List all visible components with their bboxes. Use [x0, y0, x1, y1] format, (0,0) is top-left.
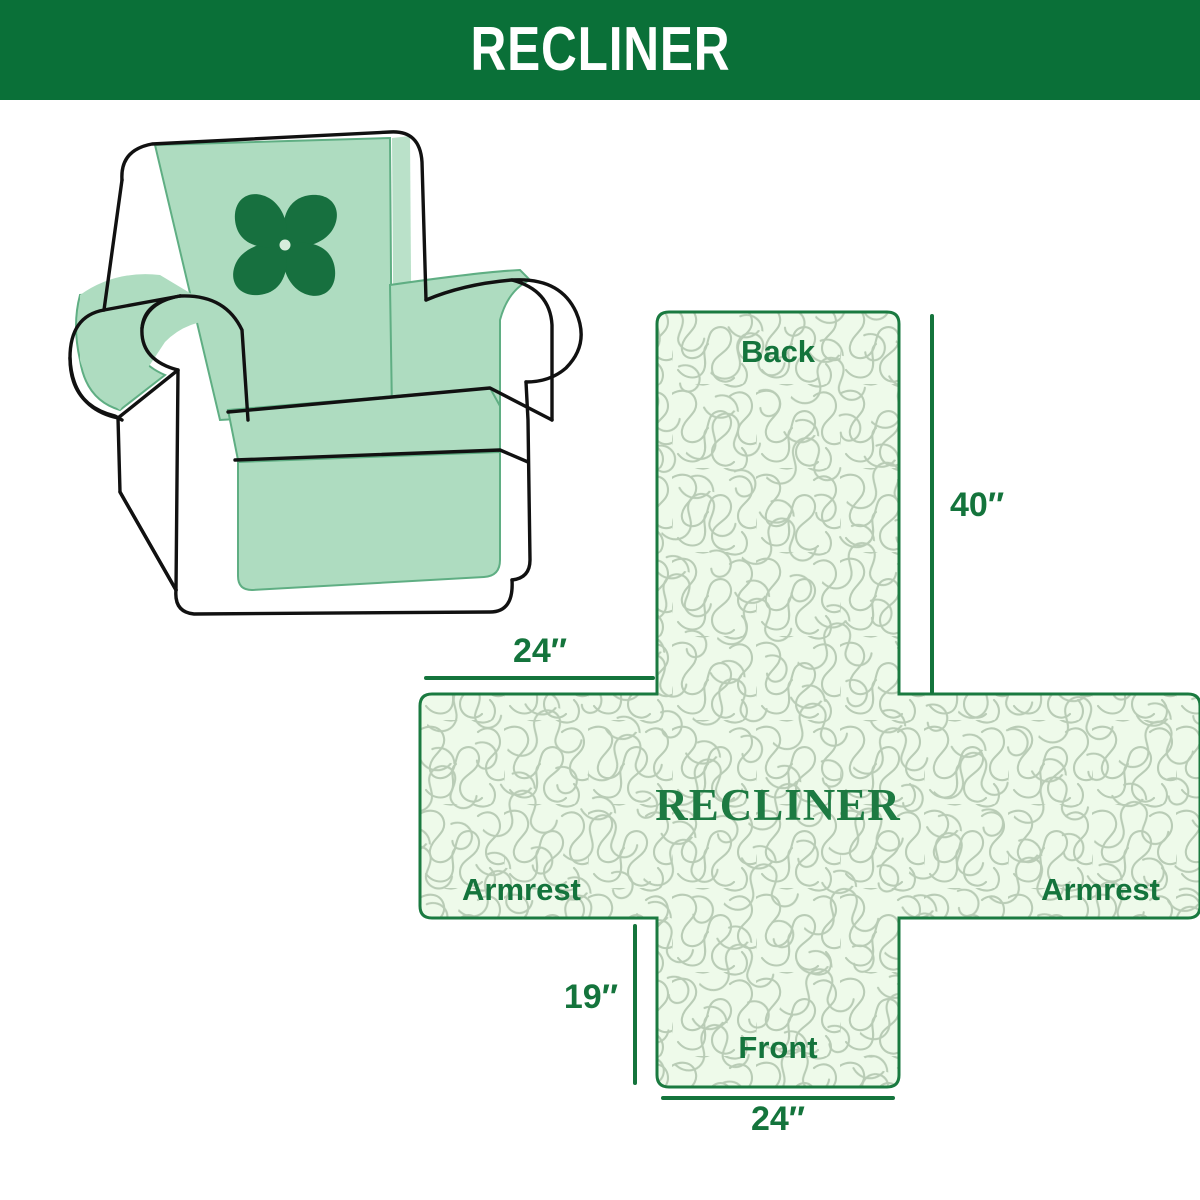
dimension-label-24-bottom: 24″ — [751, 1100, 805, 1138]
diagram-stage: Back Armrest RECLINER Armrest Front 40″ … — [0, 100, 1200, 1200]
panel-label-armrest-right: Armrest — [1041, 872, 1160, 907]
panel-label-front: Front — [738, 1030, 817, 1065]
dimension-arm-width: 24″ — [426, 632, 653, 678]
cover-cross-shape — [420, 300, 1200, 1130]
dimension-label-19: 19″ — [564, 978, 618, 1016]
dimension-front-width: 24″ — [663, 1098, 893, 1138]
dimension-label-24-top: 24″ — [513, 632, 567, 670]
panel-label-back: Back — [741, 334, 816, 369]
quilt-texture-overlay — [420, 300, 1200, 1130]
dimension-label-40: 40″ — [950, 486, 1004, 524]
dimension-front-height: 19″ — [564, 926, 635, 1083]
dimension-back-height: 40″ — [932, 316, 1004, 692]
page-title: RECLINER — [470, 19, 730, 81]
panel-label-center: RECLINER — [655, 780, 901, 830]
header-banner: RECLINER — [0, 0, 1200, 100]
panel-label-armrest-left: Armrest — [462, 872, 581, 907]
cover-cross-diagram: Back Armrest RECLINER Armrest Front 40″ … — [420, 300, 1200, 1130]
